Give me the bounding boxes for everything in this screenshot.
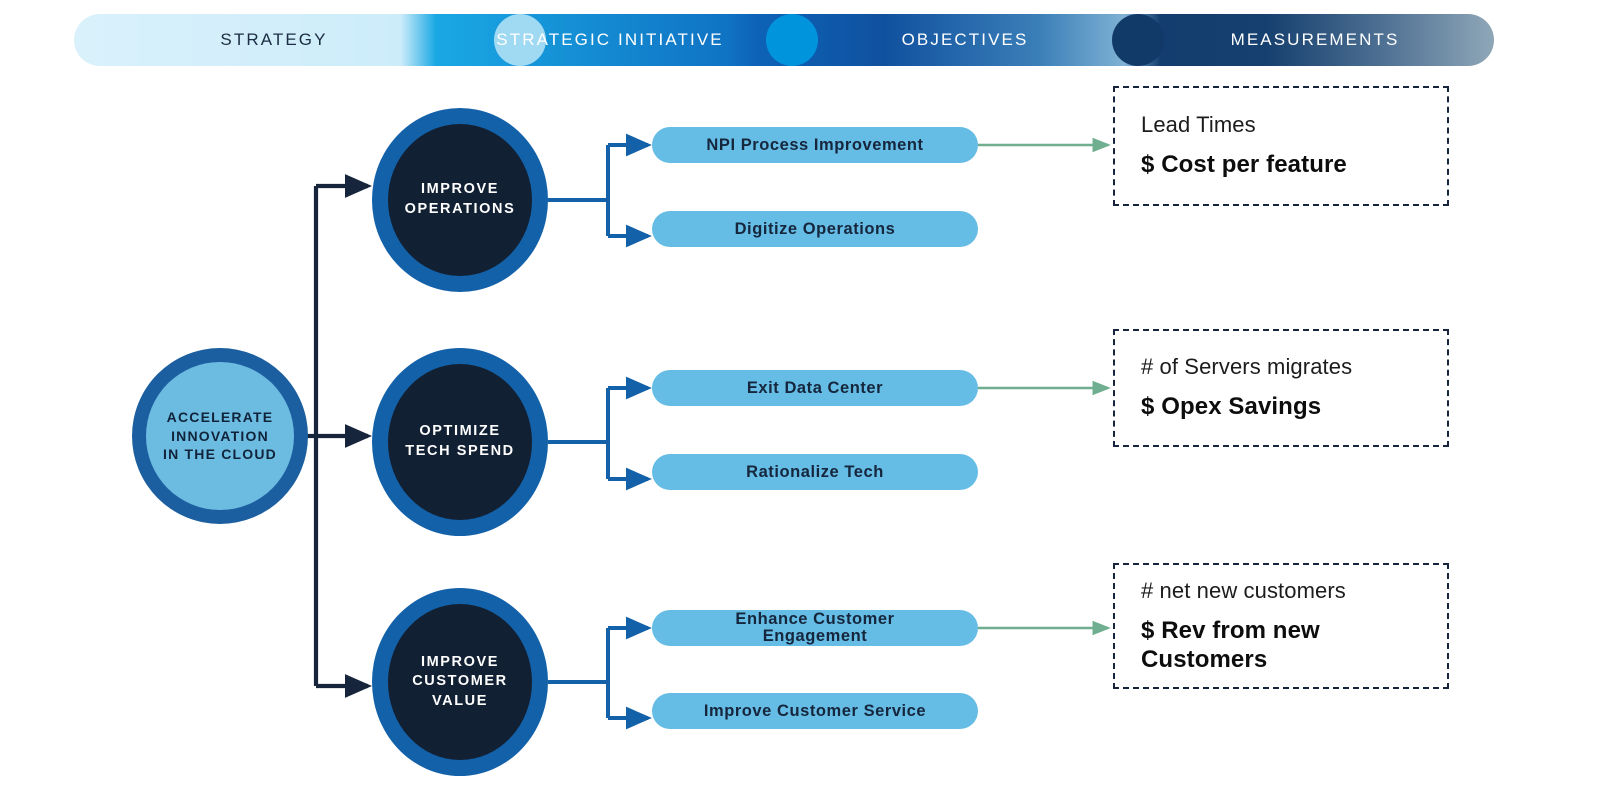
initiative-pill-label-line-2: Engagement [763,628,868,645]
initiative-pill-label: Digitize Operations [735,221,896,238]
header-label-strategic-initiative: STRATEGIC INITIATIVE [430,14,790,66]
initiative-pill-exit-data-center[interactable]: Exit Data Center [652,370,978,406]
central-node-line-1: ACCELERATE [163,408,277,427]
measurement-metric-count: # net new customers [1141,578,1447,604]
objective-node-1-line-1: IMPROVE [405,180,516,200]
objective-node-2-line-1: OPTIMIZE [405,422,514,442]
branch-connector-2 [548,388,648,479]
header-label-measurements: MEASUREMENTS [1135,14,1495,66]
measurement-box-customer-value: # net new customers $ Rev from new Custo… [1113,563,1449,689]
objective-node-improve-customer-value[interactable]: IMPROVE CUSTOMER VALUE [372,588,548,776]
objective-node-optimize-tech-spend[interactable]: OPTIMIZE TECH SPEND [372,348,548,536]
objective-node-1-line-2: OPERATIONS [405,200,516,220]
header-label-objectives: OBJECTIVES [795,14,1135,66]
initiative-pill-npi-process-improvement[interactable]: NPI Process Improvement [652,127,978,163]
objective-node-1-inner: IMPROVE OPERATIONS [388,124,532,276]
central-node-line-3: IN THE CLOUD [163,445,277,464]
objective-node-3-line-3: VALUE [412,692,508,712]
objective-node-3-label: IMPROVE CUSTOMER VALUE [412,653,508,712]
objective-node-2-line-2: TECH SPEND [405,442,514,462]
objective-node-3-inner: IMPROVE CUSTOMER VALUE [388,604,532,760]
initiative-pill-digitize-operations[interactable]: Digitize Operations [652,211,978,247]
objective-node-1-label: IMPROVE OPERATIONS [405,180,516,219]
diagram-canvas: STRATEGY STRATEGIC INITIATIVE OBJECTIVES… [0,0,1600,800]
main-trunk-connector [300,186,368,686]
measurement-metric-value: $ Cost per feature [1141,150,1447,179]
objective-node-2-inner: OPTIMIZE TECH SPEND [388,364,532,520]
measurement-metric-count: Lead Times [1141,112,1447,138]
measurement-metric-value: $ Opex Savings [1141,392,1447,421]
measurement-box-operations: Lead Times $ Cost per feature [1113,86,1449,206]
branch-connector-3 [548,628,648,718]
initiative-pill-rationalize-tech[interactable]: Rationalize Tech [652,454,978,490]
central-node-label: ACCELERATE INNOVATION IN THE CLOUD [163,408,277,465]
initiative-pill-label: Improve Customer Service [704,703,926,720]
objective-node-2-label: OPTIMIZE TECH SPEND [405,422,514,461]
initiative-pill-label: Rationalize Tech [746,464,884,481]
measurement-arrows [978,145,1108,628]
objective-node-3-line-1: IMPROVE [412,653,508,673]
central-node-accelerate-innovation[interactable]: ACCELERATE INNOVATION IN THE CLOUD [132,348,308,524]
initiative-pill-enhance-customer-engagement[interactable]: Enhance Customer Engagement [652,610,978,646]
initiative-pill-improve-customer-service[interactable]: Improve Customer Service [652,693,978,729]
initiative-pill-label: NPI Process Improvement [706,137,923,154]
objective-node-3-line-2: CUSTOMER [412,672,508,692]
initiative-pill-label: Exit Data Center [747,380,883,397]
initiative-pill-label-line-1: Enhance Customer [735,611,894,628]
branch-connector-1 [548,145,648,236]
measurement-metric-value: $ Rev from new Customers [1141,616,1447,675]
measurement-box-tech-spend: # of Servers migrates $ Opex Savings [1113,329,1449,447]
measurement-metric-value-line-2: Customers [1141,645,1447,674]
central-node-inner: ACCELERATE INNOVATION IN THE CLOUD [146,362,294,510]
header-label-strategy: STRATEGY [74,14,474,66]
measurement-metric-count: # of Servers migrates [1141,354,1447,380]
central-node-line-2: INNOVATION [163,427,277,446]
measurement-metric-value-line-1: $ Rev from new [1141,616,1447,645]
objective-node-improve-operations[interactable]: IMPROVE OPERATIONS [372,108,548,292]
